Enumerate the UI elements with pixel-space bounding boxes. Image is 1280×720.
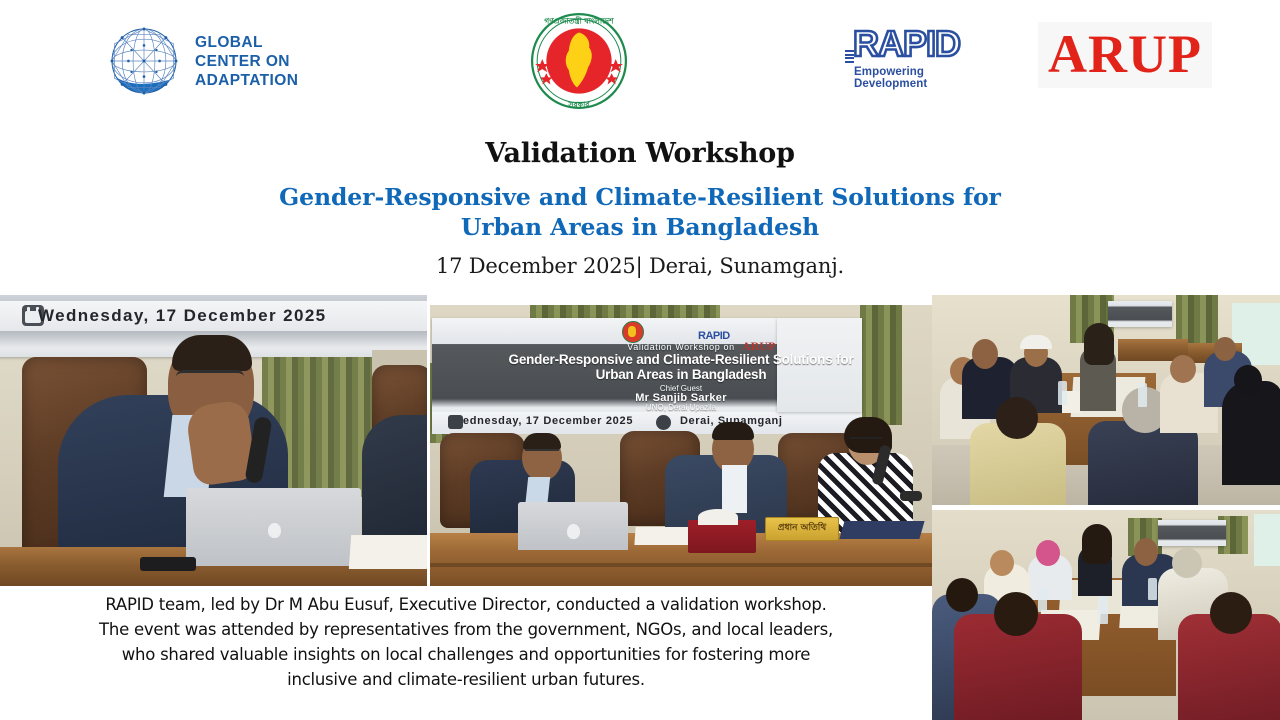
event-poster: GLOBAL CENTER ON ADAPTATION (0, 0, 1280, 720)
page-subtitle-line-2: Urban Areas in Bangladesh (0, 212, 1280, 242)
globe-icon (105, 22, 183, 100)
arup-logo: ARUP (1038, 22, 1212, 88)
photo-head-table-panel: RAPID ARUP Validation Workshop on Gender… (430, 305, 932, 586)
banner-title-line-1: Gender-Responsive and Climate-Resilient … (430, 352, 932, 367)
title-block: Validation Workshop Gender-Responsive an… (0, 120, 1280, 295)
left-photo-banner-date: Wednesday, 17 December 2025 (0, 306, 418, 326)
page-title: Validation Workshop (0, 138, 1280, 169)
gca-logo-wordmark: GLOBAL CENTER ON ADAPTATION (195, 33, 298, 90)
bangladesh-government-seal-logo: গণপ্রজাতন্ত্রী বাংলাদেশ সরকার (528, 10, 630, 112)
logo-bar: GLOBAL CENTER ON ADAPTATION (0, 0, 1280, 120)
banner-chief-guest-title: UNO, Derai Upazila (430, 403, 932, 412)
caption-line-3: who shared valuable insights on local ch… (0, 642, 932, 667)
calendar-icon (448, 415, 463, 429)
location-pin-icon (656, 415, 671, 430)
bangladesh-seal-icon: গণপ্রজাতন্ত্রী বাংলাদেশ সরকার (528, 10, 630, 112)
banner-rapid-logo: RAPID (698, 330, 730, 342)
caption-line-1: RAPID team, led by Dr M Abu Eusuf, Execu… (0, 592, 932, 617)
rapid-tagline: Empowering Development (854, 66, 990, 90)
svg-text:সরকার: সরকার (568, 100, 591, 109)
banner-title-line-2: Urban Areas in Bangladesh (430, 367, 932, 382)
gca-line-2: CENTER ON (195, 52, 298, 71)
rapid-wordmark: RAPID (853, 24, 960, 64)
photo-chief-guest-speaking: Wednesday, 17 December 2025 (0, 295, 427, 586)
gca-line-3: ADAPTATION (195, 71, 298, 90)
page-subtitle-line-1: Gender-Responsive and Climate-Resilient … (0, 182, 1280, 212)
gca-logo: GLOBAL CENTER ON ADAPTATION (105, 22, 298, 100)
photo-group-discussion-bottom (932, 510, 1280, 720)
svg-text:গণপ্রজাতন্ত্রী বাংলাদেশ: গণপ্রজাতন্ত্রী বাংলাদেশ (544, 14, 615, 25)
gca-line-1: GLOBAL (195, 33, 298, 52)
date-venue-line: 17 December 2025| Derai, Sunamganj. (0, 254, 1280, 278)
rapid-logo: RAPID Empowering Development (845, 26, 990, 86)
arup-wordmark: ARUP (1048, 26, 1202, 82)
caption-line-2: The event was attended by representative… (0, 617, 932, 642)
laptop-icon (186, 488, 361, 566)
photo-collage: Wednesday, 17 December 2025 (0, 295, 1280, 586)
caption-line-4: inclusive and climate-resilient urban fu… (0, 667, 932, 692)
photo-group-discussion-top (932, 295, 1280, 505)
banner-heading: Validation Workshop on (430, 342, 932, 352)
page-subtitle: Gender-Responsive and Climate-Resilient … (0, 182, 1280, 242)
nameplate: প্রধান অতিথি (765, 517, 839, 541)
caption-text: RAPID team, led by Dr M Abu Eusuf, Execu… (0, 592, 932, 692)
laptop-icon (518, 502, 628, 550)
